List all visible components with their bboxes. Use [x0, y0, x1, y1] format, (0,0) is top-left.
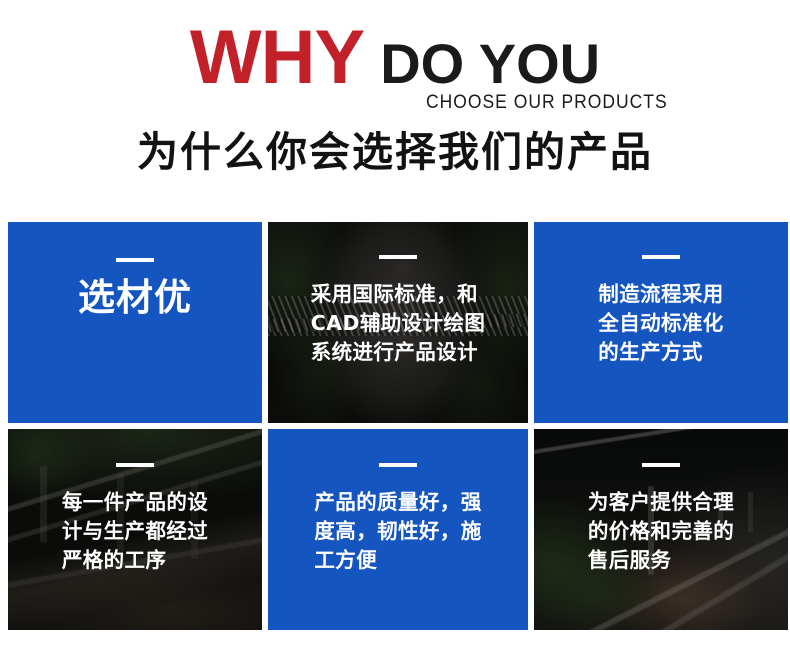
headline-why-text: WHY [190, 20, 364, 96]
feature-grid: 选材优 采用国际标准，和 CAD辅助设计绘图 系统进行产品设计 制造流程采用 全… [8, 222, 782, 638]
page-header: WHY DO YOU CHOOSE OUR PRODUCTS 为什么你会选择我们… [0, 0, 790, 212]
divider-rule-icon [379, 463, 417, 467]
divider-rule-icon [116, 463, 154, 467]
headline: WHY DO YOU [0, 18, 790, 96]
headline-doyou-text: DO YOU [380, 35, 600, 96]
feature-card-2[interactable]: 采用国际标准，和 CAD辅助设计绘图 系统进行产品设计 [268, 222, 528, 423]
divider-rule-icon [642, 463, 680, 467]
feature-card-3-content: 制造流程采用 全自动标准化 的生产方式 [534, 222, 788, 423]
feature-card-4-text: 每一件产品的设 计与生产都经过 严格的工序 [62, 488, 208, 575]
feature-card-3-text: 制造流程采用 全自动标准化 的生产方式 [598, 280, 723, 367]
feature-card-5[interactable]: 产品的质量好，强 度高，韧性好，施 工方便 [268, 429, 528, 630]
feature-card-1[interactable]: 选材优 [8, 222, 262, 423]
feature-card-4-content: 每一件产品的设 计与生产都经过 严格的工序 [8, 429, 262, 630]
feature-card-5-content: 产品的质量好，强 度高，韧性好，施 工方便 [268, 429, 528, 630]
divider-rule-icon [379, 255, 417, 259]
promo-page: WHY DO YOU CHOOSE OUR PRODUCTS 为什么你会选择我们… [0, 0, 790, 665]
feature-card-2-text: 采用国际标准，和 CAD辅助设计绘图 系统进行产品设计 [311, 280, 486, 367]
feature-card-1-text: 选材优 [78, 276, 192, 320]
feature-card-4[interactable]: 每一件产品的设 计与生产都经过 严格的工序 [8, 429, 262, 630]
divider-rule-icon [116, 258, 154, 262]
feature-card-2-content: 采用国际标准，和 CAD辅助设计绘图 系统进行产品设计 [268, 222, 528, 423]
feature-card-1-content: 选材优 [8, 222, 262, 423]
feature-card-6-text: 为客户提供合理 的价格和完善的 售后服务 [588, 488, 734, 575]
feature-card-6[interactable]: 为客户提供合理 的价格和完善的 售后服务 [534, 429, 788, 630]
feature-card-3[interactable]: 制造流程采用 全自动标准化 的生产方式 [534, 222, 788, 423]
feature-card-5-text: 产品的质量好，强 度高，韧性好，施 工方便 [314, 488, 481, 575]
subtitle-english: CHOOSE OUR PRODUCTS [426, 92, 668, 114]
feature-card-6-content: 为客户提供合理 的价格和完善的 售后服务 [534, 429, 788, 630]
divider-rule-icon [642, 255, 680, 259]
subtitle-chinese: 为什么你会选择我们的产品 [0, 126, 790, 178]
